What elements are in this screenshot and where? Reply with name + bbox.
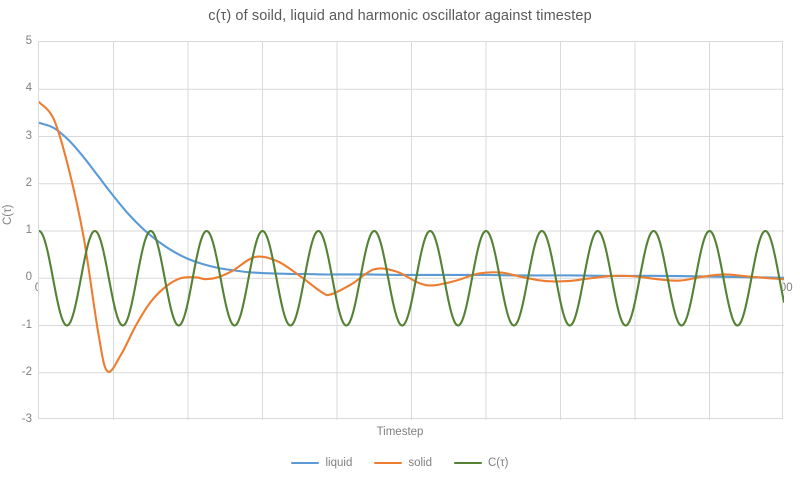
chart-root: c(τ) of soild, liquid and harmonic oscil… (0, 0, 800, 478)
legend-label: solid (408, 457, 432, 469)
chart-title: c(τ) of soild, liquid and harmonic oscil… (0, 8, 800, 24)
legend-color-swatch (374, 462, 402, 465)
y-axis-title: C(τ) (2, 204, 14, 225)
legend-item[interactable]: solid (374, 457, 432, 469)
y-tick-label: 2 (26, 177, 32, 189)
y-tick-label: -3 (22, 413, 32, 425)
legend-color-swatch (291, 462, 319, 465)
legend-label: liquid (325, 457, 352, 469)
legend-item[interactable]: liquid (291, 457, 352, 469)
plot-area (38, 41, 783, 419)
chart-legend: liquidsolidC(τ) (0, 457, 800, 469)
y-tick-label: -2 (22, 366, 32, 378)
series-lines (39, 42, 784, 420)
legend-color-swatch (454, 462, 482, 465)
y-tick-label: 5 (26, 35, 32, 47)
legend-label: C(τ) (488, 457, 509, 469)
y-tick-label: 3 (26, 130, 32, 142)
y-tick-label: 0 (26, 271, 32, 283)
y-tick-label: 1 (26, 224, 32, 236)
y-tick-label: 4 (26, 82, 32, 94)
x-axis-title: Timestep (0, 426, 800, 438)
y-tick-label: -1 (22, 319, 32, 331)
legend-item[interactable]: C(τ) (454, 457, 509, 469)
